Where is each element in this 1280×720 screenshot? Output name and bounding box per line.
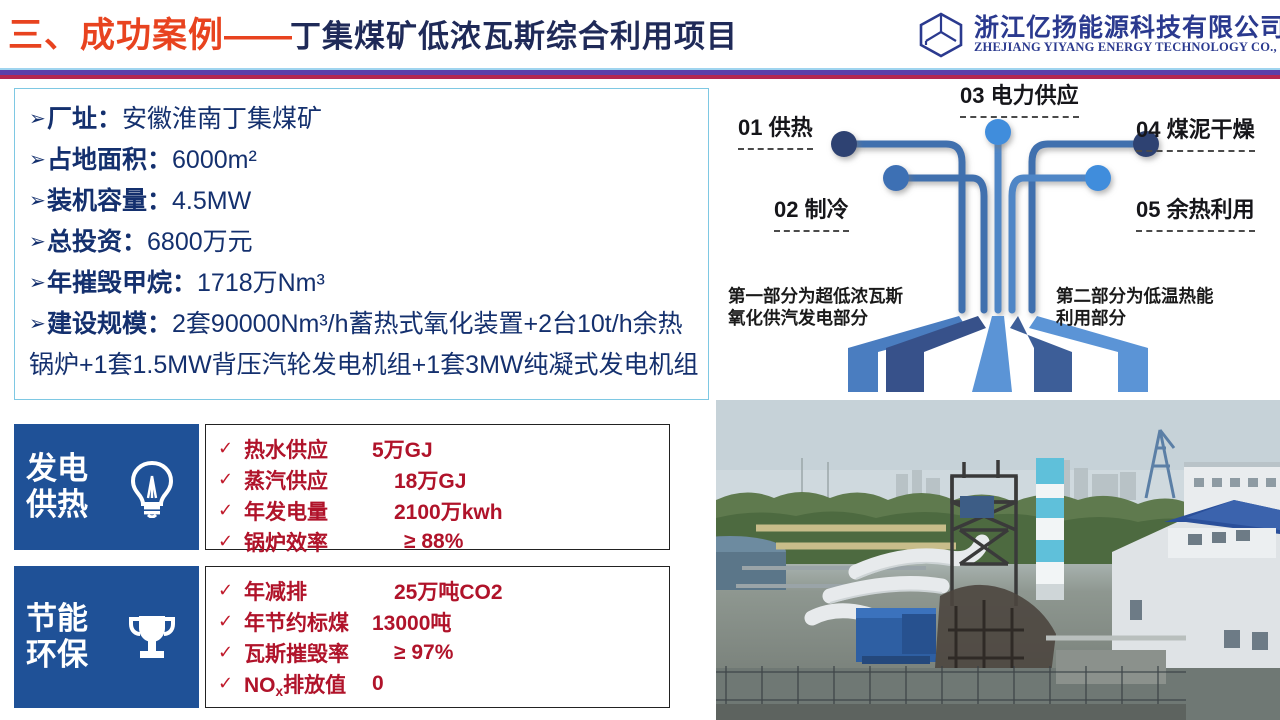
label-underline	[960, 116, 1079, 118]
company-logo: 浙江亿扬能源科技有限公司 ZHEJIANG YIYANG ENERGY TECH…	[918, 8, 1273, 64]
info-value: 2套90000Nm³/h蓄热式氧化装置+2台10t/h余热	[172, 304, 683, 344]
check-icon: ✓	[218, 611, 244, 632]
diagram-label-text: 制冷	[805, 197, 849, 222]
node-03	[985, 119, 1011, 145]
hexagon-logo-icon	[918, 12, 964, 58]
metric-value: 2100万kwh	[372, 496, 503, 526]
info-key: 建设规模：	[47, 304, 172, 344]
slide-root: 三、成功案例——丁集煤矿低浓瓦斯综合利用项目 浙江亿扬能源科技有限公司 ZHEJ…	[0, 0, 1280, 720]
metric-label: NOx排放值	[244, 669, 372, 699]
bullet-arrow-icon: ➢	[29, 304, 47, 344]
list-item: ➢ 总投资： 6800万元	[29, 222, 701, 262]
metric-label: 热水供应	[244, 434, 372, 464]
info-key: 装机容量：	[47, 181, 172, 221]
metric-list: ✓ 年减排 25万吨CO2 ✓ 年节约标煤 13000吨 ✓ 瓦斯摧毁率 ≥ 9…	[218, 575, 663, 699]
list-item: ➢ 厂址： 安徽淮南丁集煤矿	[29, 99, 701, 139]
bullet-arrow-icon: ➢	[29, 99, 47, 139]
diagram-label-number: 04	[1136, 117, 1160, 142]
metric-label: 年节约标煤	[244, 607, 372, 637]
metric-value: ≥ 97%	[372, 641, 453, 665]
info-value: 6000m²	[172, 140, 257, 180]
feature-caption-energy-saving: 节能 环保	[14, 566, 199, 708]
info-value: 4.5MW	[172, 181, 251, 221]
diagram-note-part1: 第一部分为超低浓瓦斯 氧化供汽发电部分	[728, 285, 903, 329]
diagram-label-text: 电力供应	[991, 83, 1079, 108]
metric-label: 蒸汽供应	[244, 465, 372, 495]
info-wrapped-line: 锅炉+1套1.5MW背压汽轮发电机组+1套3MW纯凝式发电机组	[29, 345, 701, 385]
metric-value: 25万吨CO2	[372, 576, 503, 606]
diagram-label-text: 供热	[769, 115, 813, 140]
metric-value: 5万GJ	[372, 434, 433, 464]
project-site-photo	[716, 400, 1280, 720]
header-divider	[0, 68, 1280, 79]
trophy-icon	[121, 606, 183, 668]
metric-label: 瓦斯摧毁率	[244, 638, 372, 668]
metric-list: ✓ 热水供应 5万GJ ✓ 蒸汽供应 18万GJ ✓ 年发电量 2100万kwh…	[218, 433, 663, 557]
metric-value: ≥ 88%	[372, 530, 463, 554]
metric-row: ✓ 年减排 25万吨CO2	[218, 575, 663, 606]
page-title-red: 三、成功案例	[8, 16, 224, 55]
info-key: 厂址：	[47, 99, 122, 139]
check-icon: ✓	[218, 438, 244, 459]
metric-label-post: 排放值	[283, 674, 346, 697]
metric-row: ✓ 年发电量 2100万kwh	[218, 495, 663, 526]
label-underline	[774, 230, 849, 232]
label-underline	[1136, 150, 1255, 152]
node-02	[883, 165, 909, 191]
metric-value: 13000吨	[372, 607, 451, 637]
metric-row: ✓ 锅炉效率 ≥ 88%	[218, 526, 663, 557]
company-name-cn: 浙江亿扬能源科技有限公司	[974, 8, 1280, 44]
lightbulb-icon	[121, 456, 183, 518]
check-icon: ✓	[218, 580, 244, 601]
diagram-label-number: 05	[1136, 197, 1160, 222]
check-icon: ✓	[218, 531, 244, 552]
label-underline	[738, 148, 813, 150]
info-value: 安徽淮南丁集煤矿	[122, 99, 322, 139]
list-item: ➢ 装机容量： 4.5MW	[29, 181, 701, 221]
label-underline	[1136, 230, 1255, 232]
bullet-arrow-icon: ➢	[29, 140, 47, 180]
energy-flow-diagram: 01 供热 02 制冷 03 电力供应 04 煤泥干燥 05 余热利用 第一部分…	[716, 80, 1280, 400]
metric-label-sub: x	[276, 684, 284, 699]
divider-band-crimson	[0, 75, 1280, 79]
diagram-label-text: 余热利用	[1167, 197, 1255, 222]
project-info-list: ➢ 厂址： 安徽淮南丁集煤矿 ➢ 占地面积： 6000m² ➢ 装机容量： 4.…	[29, 99, 701, 385]
feature-block-power-heat: 发电 供热 ✓ 热水供应 5万GJ ✓	[14, 424, 670, 550]
project-info-box: ➢ 厂址： 安徽淮南丁集煤矿 ➢ 占地面积： 6000m² ➢ 装机容量： 4.…	[14, 88, 709, 400]
bullet-arrow-icon: ➢	[29, 222, 47, 262]
check-icon: ✓	[218, 673, 244, 694]
metric-label-pre: NO	[244, 674, 276, 697]
photo-graphic	[716, 400, 1280, 720]
diagram-label-number: 02	[774, 197, 798, 222]
metric-value: 0	[372, 672, 384, 696]
feature-caption-power-heat: 发电 供热	[14, 424, 199, 550]
slide-header: 三、成功案例——丁集煤矿低浓瓦斯综合利用项目 浙江亿扬能源科技有限公司 ZHEJ…	[0, 0, 1280, 70]
info-value: 1718万Nm³	[197, 263, 325, 303]
metric-value: 18万GJ	[372, 465, 466, 495]
diagram-label-number: 03	[960, 83, 984, 108]
check-icon: ✓	[218, 642, 244, 663]
bullet-arrow-icon: ➢	[29, 181, 47, 221]
diagram-label-number: 01	[738, 115, 762, 140]
diagram-label-04: 04 煤泥干燥	[1136, 112, 1255, 144]
diagram-label-01: 01 供热	[738, 110, 813, 142]
page-title-dash: ——	[224, 16, 290, 55]
feature-rows-energy-saving: ✓ 年减排 25万吨CO2 ✓ 年节约标煤 13000吨 ✓ 瓦斯摧毁率 ≥ 9…	[205, 566, 670, 708]
metric-row: ✓ NOx排放值 0	[218, 668, 663, 699]
metric-row: ✓ 瓦斯摧毁率 ≥ 97%	[218, 637, 663, 668]
diagram-label-text: 煤泥干燥	[1167, 117, 1255, 142]
feature-caption-label: 发电 供热	[26, 451, 88, 523]
list-item: ➢ 建设规模： 2套90000Nm³/h蓄热式氧化装置+2台10t/h余热	[29, 304, 701, 344]
info-key: 年摧毁甲烷：	[47, 263, 197, 303]
metric-label: 锅炉效率	[244, 527, 372, 557]
list-item: ➢ 占地面积： 6000m²	[29, 140, 701, 180]
metric-label: 年减排	[244, 576, 372, 606]
info-value: 6800万元	[147, 222, 253, 262]
list-item: ➢ 年摧毁甲烷： 1718万Nm³	[29, 263, 701, 303]
check-icon: ✓	[218, 469, 244, 490]
metric-row: ✓ 蒸汽供应 18万GJ	[218, 464, 663, 495]
diagram-label-03: 03 电力供应	[960, 80, 1079, 110]
diagram-label-02: 02 制冷	[774, 192, 849, 224]
info-key: 总投资：	[47, 222, 147, 262]
page-title: 三、成功案例——丁集煤矿低浓瓦斯综合利用项目	[8, 14, 738, 59]
metric-row: ✓ 热水供应 5万GJ	[218, 433, 663, 464]
metric-row: ✓ 年节约标煤 13000吨	[218, 606, 663, 637]
page-title-navy: 丁集煤矿低浓瓦斯综合利用项目	[290, 19, 738, 54]
feature-rows-power-heat: ✓ 热水供应 5万GJ ✓ 蒸汽供应 18万GJ ✓ 年发电量 2100万kwh…	[205, 424, 670, 550]
node-01	[831, 131, 857, 157]
diagram-label-05: 05 余热利用	[1136, 192, 1255, 224]
feature-block-energy-saving: 节能 环保 ✓ 年减排 25万吨CO2 ✓	[14, 566, 670, 708]
diagram-note-part2: 第二部分为低温热能 利用部分	[1056, 285, 1214, 329]
node-05	[1085, 165, 1111, 191]
check-icon: ✓	[218, 500, 244, 521]
feature-caption-label: 节能 环保	[26, 601, 88, 673]
company-name-en: ZHEJIANG YIYANG ENERGY TECHNOLOGY CO., L…	[974, 40, 1280, 55]
metric-label: 年发电量	[244, 496, 372, 526]
info-key: 占地面积：	[47, 140, 172, 180]
bullet-arrow-icon: ➢	[29, 263, 47, 303]
